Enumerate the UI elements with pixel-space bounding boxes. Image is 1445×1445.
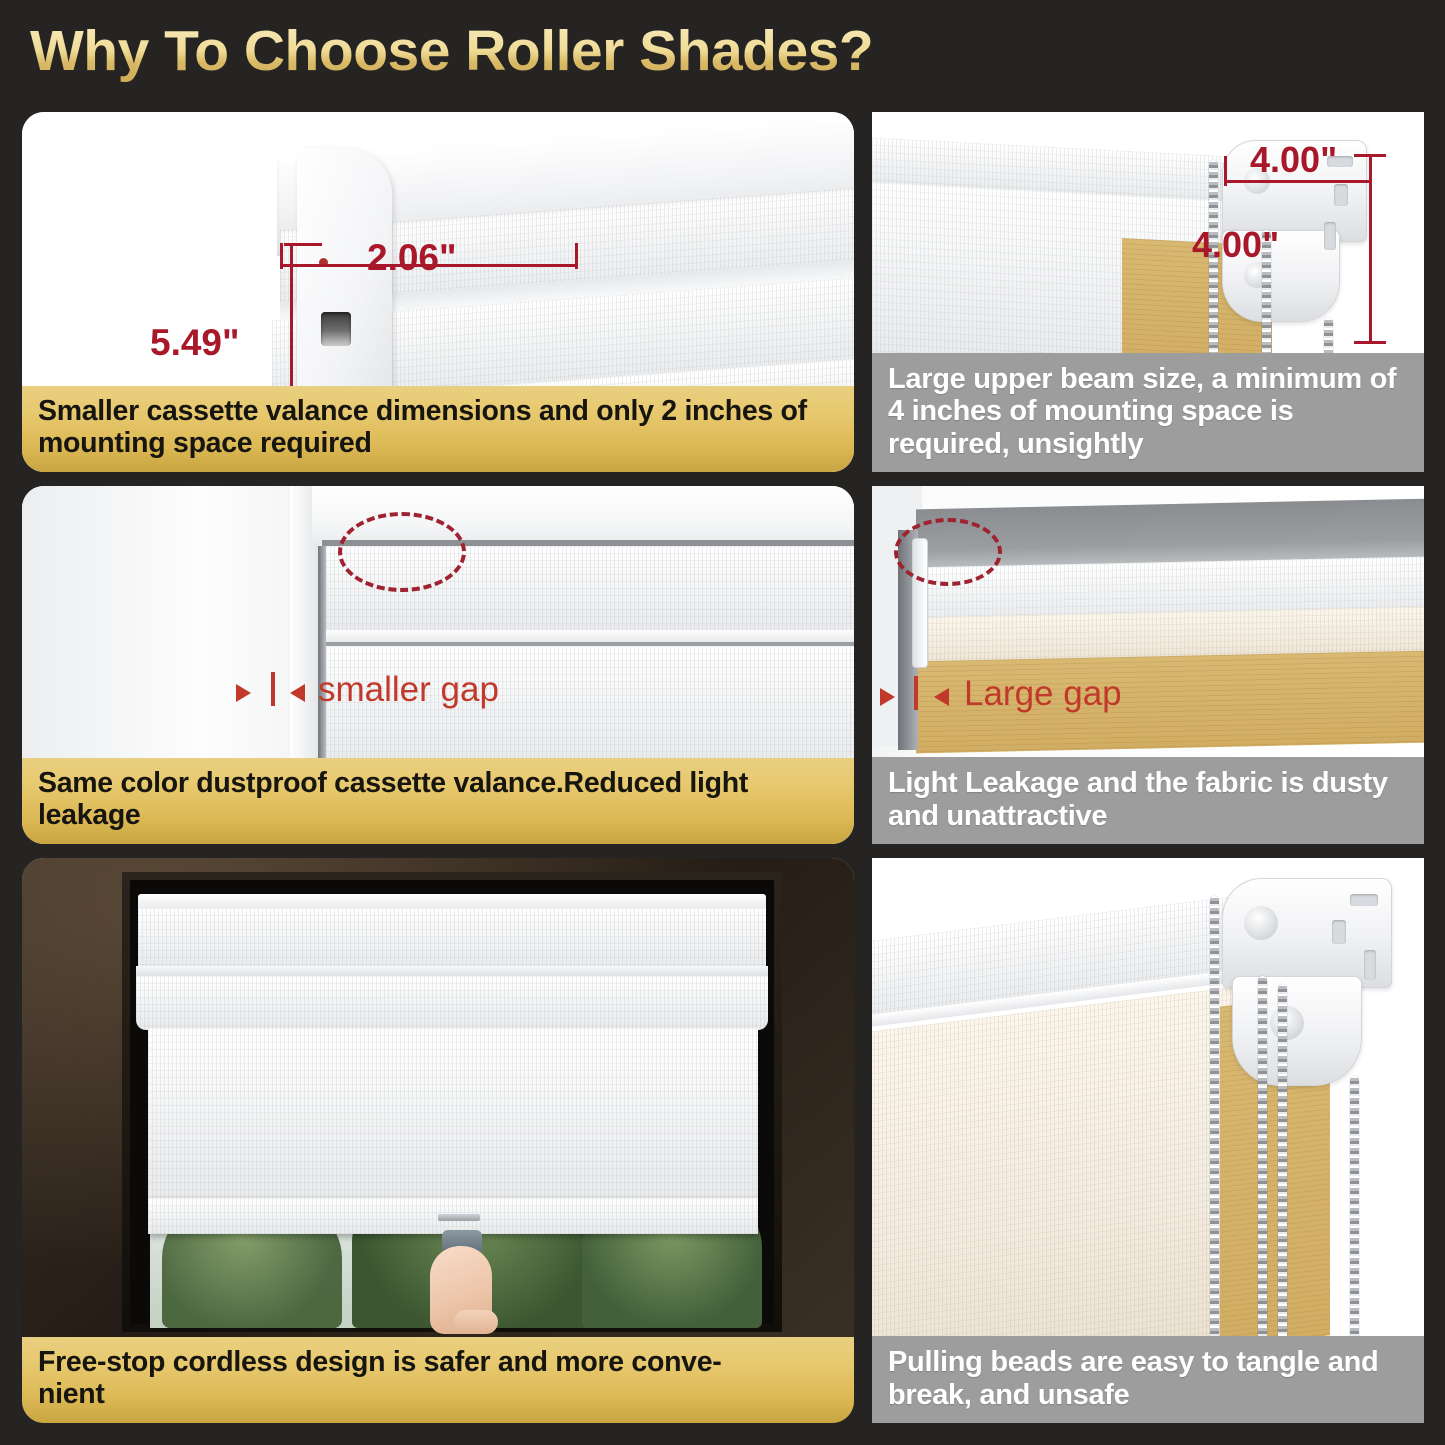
wrist [454,1310,498,1334]
panel-caption: Same color dustproof cassette valance.Re… [22,758,854,844]
highlight-ellipse [338,512,466,592]
bracket-slot-bottom [1324,222,1336,250]
page-title: Why To Choose Roller Shades? [30,18,1030,90]
height-dimension-label: 5.49" [150,322,240,364]
bracket-slot-top [1350,894,1378,906]
panel-cassette-dimensions: 2.06" 5.49" Smaller cassette valance dim… [22,112,854,472]
beam-height-tick-top [1354,154,1386,157]
panel-large-upper-beam: 4.00" 4.00" Large upper beam size, a min… [872,112,1424,472]
valance-face [138,908,766,970]
bracket-slot-upper [1332,920,1346,944]
bead-chain-3 [1278,984,1287,1356]
bead-chain-4 [1350,1076,1359,1356]
beam-height-line [1369,154,1372,344]
bead-chain-left [1209,160,1218,375]
bead-chain-2 [1258,976,1267,1356]
beam-width-tick-left [1224,156,1227,186]
panel-dustproof-valance: smaller gap Same color dustproof cassett… [22,486,854,844]
panel-caption: Large upper beam size, a minimum of 4 in… [872,353,1424,472]
gap-arrow-right [934,688,949,706]
panel-caption: Free-stop cordless design is safer and m… [22,1337,854,1423]
bracket-hub-lower [1270,1006,1304,1040]
gap-label: smaller gap [318,670,499,710]
end-cap-slot [321,312,351,346]
bottom-rail-tab [438,1214,480,1221]
gap-label: Large gap [964,674,1122,714]
roller-tube [136,976,768,1030]
infographic-root: Why To Choose Roller Shades? 2.06" 5.49" [0,0,1445,1445]
bracket-slot-mid [1364,950,1376,980]
panel-pulling-beads: Pulling beads are easy to tangle and bre… [872,858,1424,1423]
beam-width-label: 4.00" [1250,139,1337,181]
beam-height-label: 4.00" [1192,224,1279,266]
side-gap [318,546,326,766]
width-dimension-tick-right [575,243,578,269]
panel-caption: Smaller cassette valance dimensions and … [22,386,854,472]
width-dimension-label: 2.06" [367,237,457,279]
shade-fabric-cream [872,983,1262,1382]
gap-arrow-right [290,684,305,702]
valance-end-cap [297,148,392,423]
bead-chain-1 [1210,896,1219,1356]
shade-fabric [148,1028,758,1206]
beam-height-tick-bottom [1354,341,1386,344]
height-dimension-tick-top [284,243,322,246]
bracket-hub [1244,906,1278,940]
panel-cordless-design: Free-stop cordless design is safer and m… [22,858,854,1423]
panel-light-leakage: Large gap Light Leakage and the fabric i… [872,486,1424,844]
panel-caption: Pulling beads are easy to tangle and bre… [872,1336,1424,1423]
gap-tick [914,676,918,710]
gap-arrow-left [880,688,895,706]
window-frame-left [22,486,322,766]
bracket-slot-mid [1334,184,1348,206]
gap-arrow-left [236,684,251,702]
gap-tick [271,672,275,706]
highlight-ellipse [894,518,1002,586]
width-dimension-tick-left [280,243,283,269]
panel-caption: Light Leakage and the fabric is dusty an… [872,757,1424,844]
